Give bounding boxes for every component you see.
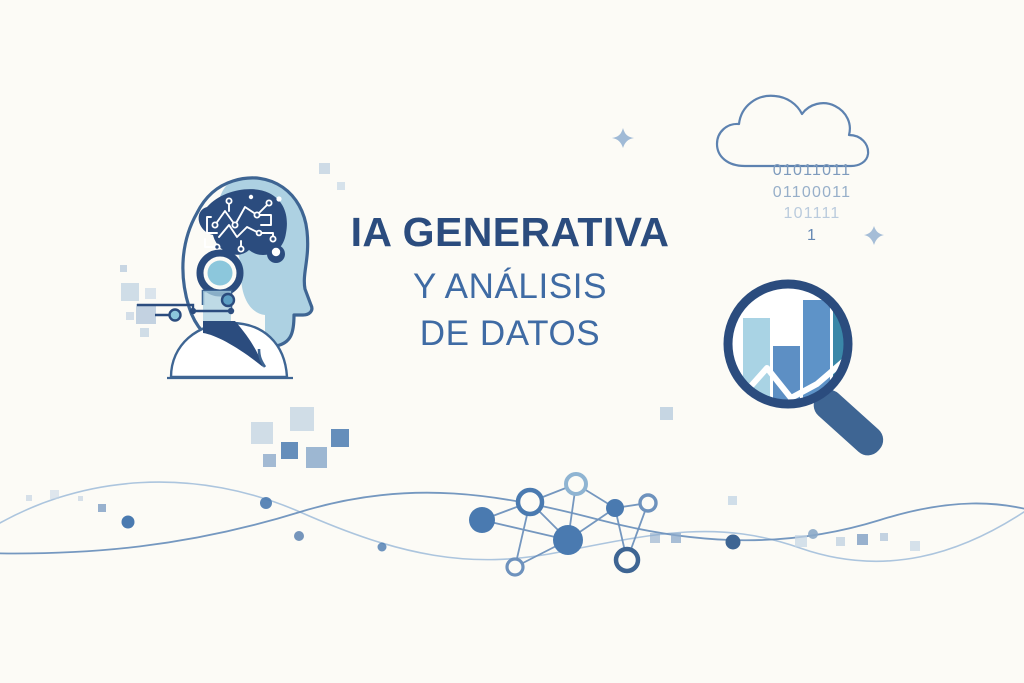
sparkle-icon (612, 128, 634, 148)
title-line-3: DE DATOS (310, 313, 710, 354)
title-line-1: IA GENERATIVA (310, 212, 710, 254)
poster-canvas: 01011011 01100011 101111 1 (0, 0, 1024, 683)
title-line-2: Y ANÁLISIS (310, 266, 710, 307)
sparkle-icon (864, 226, 884, 245)
poster-title: IA GENERATIVA Y ANÁLISIS DE DATOS (310, 212, 710, 354)
